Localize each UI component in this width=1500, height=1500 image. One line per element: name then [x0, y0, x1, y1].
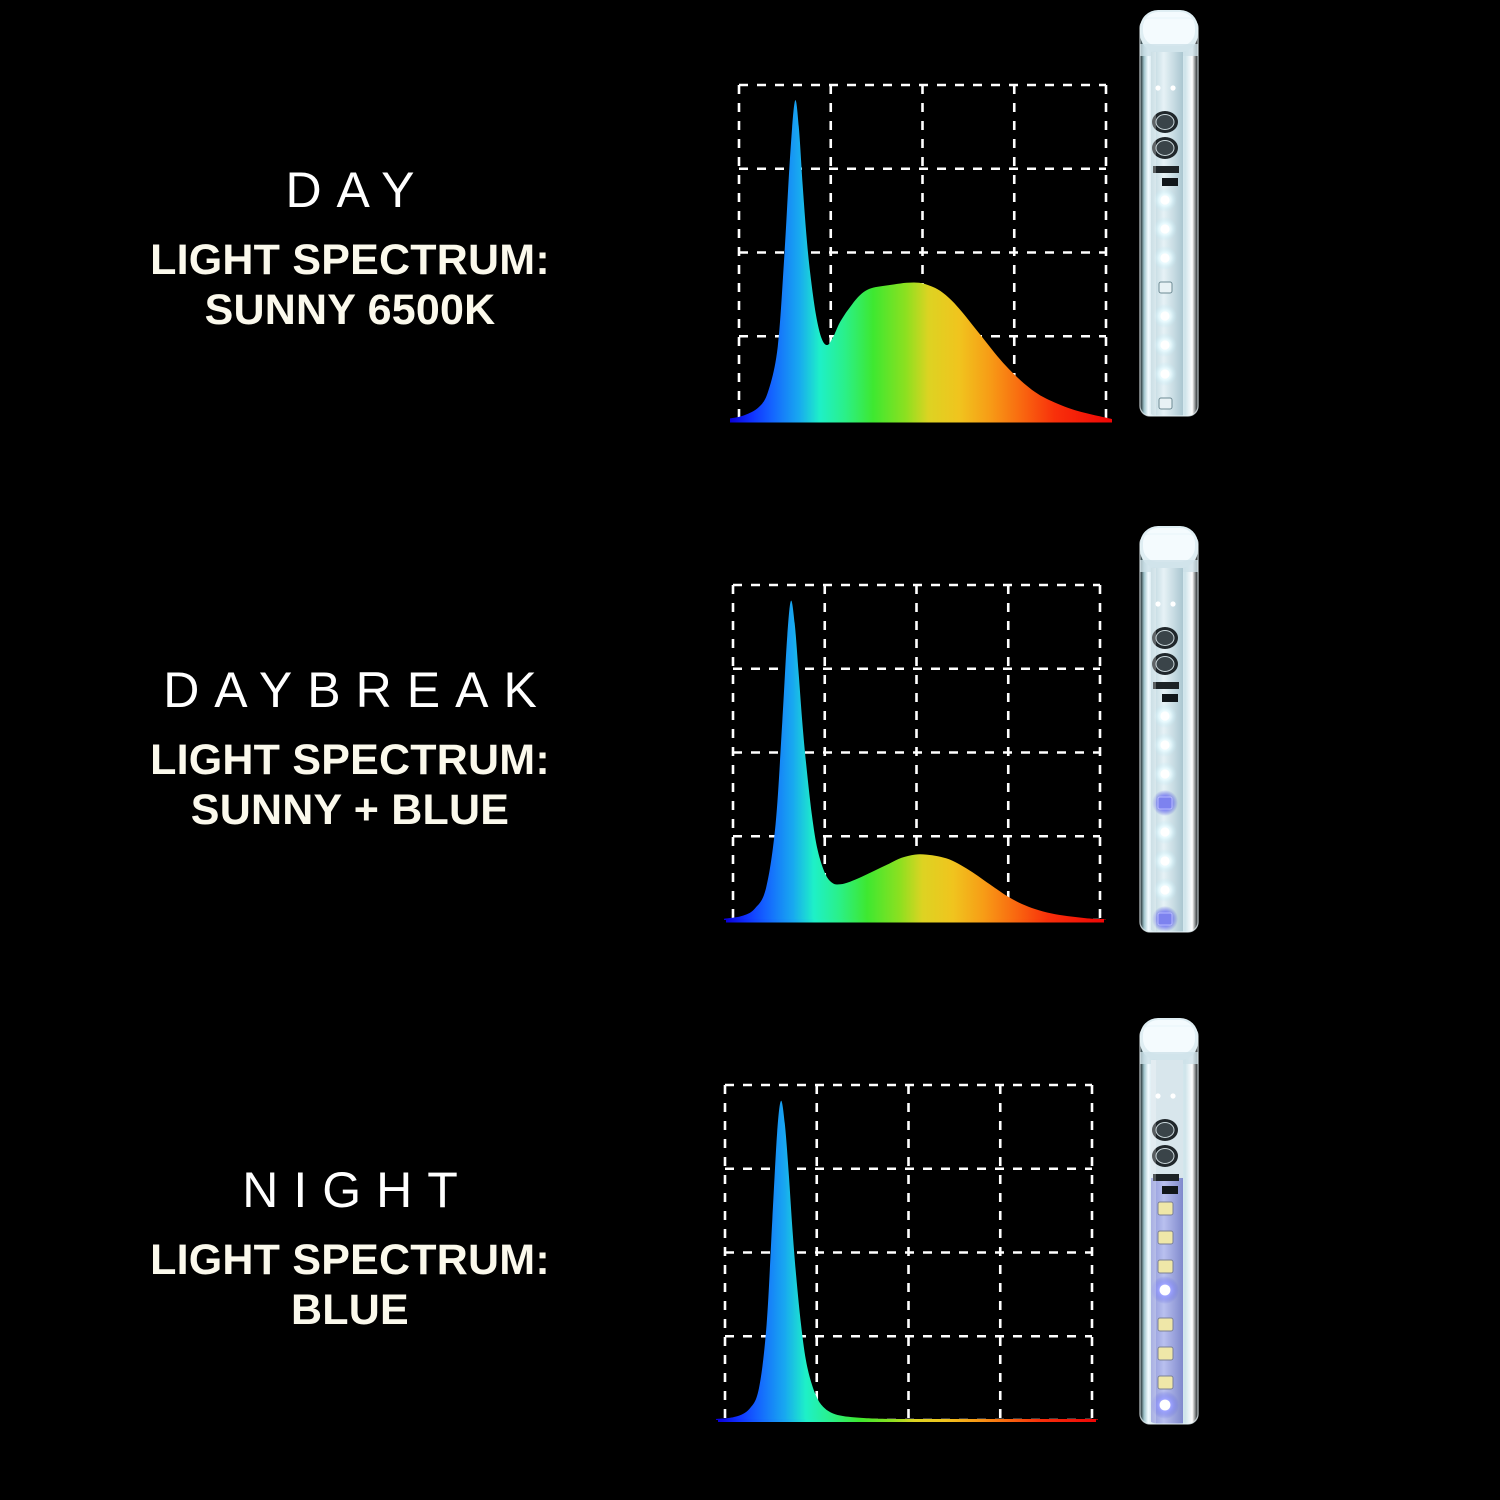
spectrum-label-line1: LIGHT SPECTRUM:: [150, 1236, 550, 1284]
led-tube-night: [1134, 1000, 1206, 1500]
spectrum-label-line2: SUNNY + BLUE: [191, 786, 509, 834]
spectrum-label-line2: SUNNY 6500K: [205, 286, 496, 334]
text-column-day: DAY LIGHT SPECTRUM: SUNNY 6500K: [0, 0, 700, 500]
tube-svg-night: [1134, 1000, 1206, 1500]
chart-svg-daybreak: [700, 500, 1120, 1000]
spectrum-label-night: LIGHT SPECTRUM: BLUE: [150, 1235, 550, 1336]
chart-baseline-night: [718, 1419, 1096, 1422]
chart-curve-daybreak: [724, 601, 1106, 920]
section-day: DAY LIGHT SPECTRUM: SUNNY 6500K: [0, 0, 1500, 500]
spectrum-chart-day: [700, 0, 1120, 500]
tube-internals: [1151, 1060, 1183, 1424]
chart-curve-night: [716, 1101, 1098, 1420]
led-tube-daybreak: [1134, 500, 1206, 1000]
chart-curve-day: [730, 100, 1112, 420]
chart-baseline-daybreak: [726, 919, 1104, 923]
spectrum-label-line1: LIGHT SPECTRUM:: [150, 236, 550, 284]
mode-title-daybreak: DAYBREAK: [148, 664, 552, 717]
tube-svg-day: [1134, 0, 1206, 500]
tube-svg-daybreak: [1134, 500, 1206, 1000]
chart-svg-day: [700, 0, 1120, 500]
section-night: NIGHT LIGHT SPECTRUM: BLUE: [0, 1000, 1500, 1500]
text-column-daybreak: DAYBREAK LIGHT SPECTRUM: SUNNY + BLUE: [0, 500, 700, 1000]
led-tube-day: [1134, 0, 1206, 500]
spectrum-chart-daybreak: [700, 500, 1120, 1000]
section-daybreak: DAYBREAK LIGHT SPECTRUM: SUNNY + BLUE: [0, 500, 1500, 1000]
tube-internals: [1151, 568, 1183, 932]
spectrum-chart-night: [700, 1000, 1120, 1500]
mode-title-night: NIGHT: [227, 1164, 473, 1217]
spectrum-label-daybreak: LIGHT SPECTRUM: SUNNY + BLUE: [150, 735, 550, 836]
chart-svg-night: [700, 1000, 1120, 1500]
mode-title-day: DAY: [270, 164, 429, 217]
text-column-night: NIGHT LIGHT SPECTRUM: BLUE: [0, 1000, 700, 1500]
light-spectrum-infographic: DAY LIGHT SPECTRUM: SUNNY 6500K: [0, 0, 1500, 1500]
tube-internals: [1151, 52, 1183, 416]
spectrum-label-day: LIGHT SPECTRUM: SUNNY 6500K: [150, 235, 550, 336]
spectrum-label-line1: LIGHT SPECTRUM:: [150, 736, 550, 784]
chart-baseline-day: [730, 419, 1112, 423]
spectrum-label-line2: BLUE: [291, 1286, 409, 1334]
